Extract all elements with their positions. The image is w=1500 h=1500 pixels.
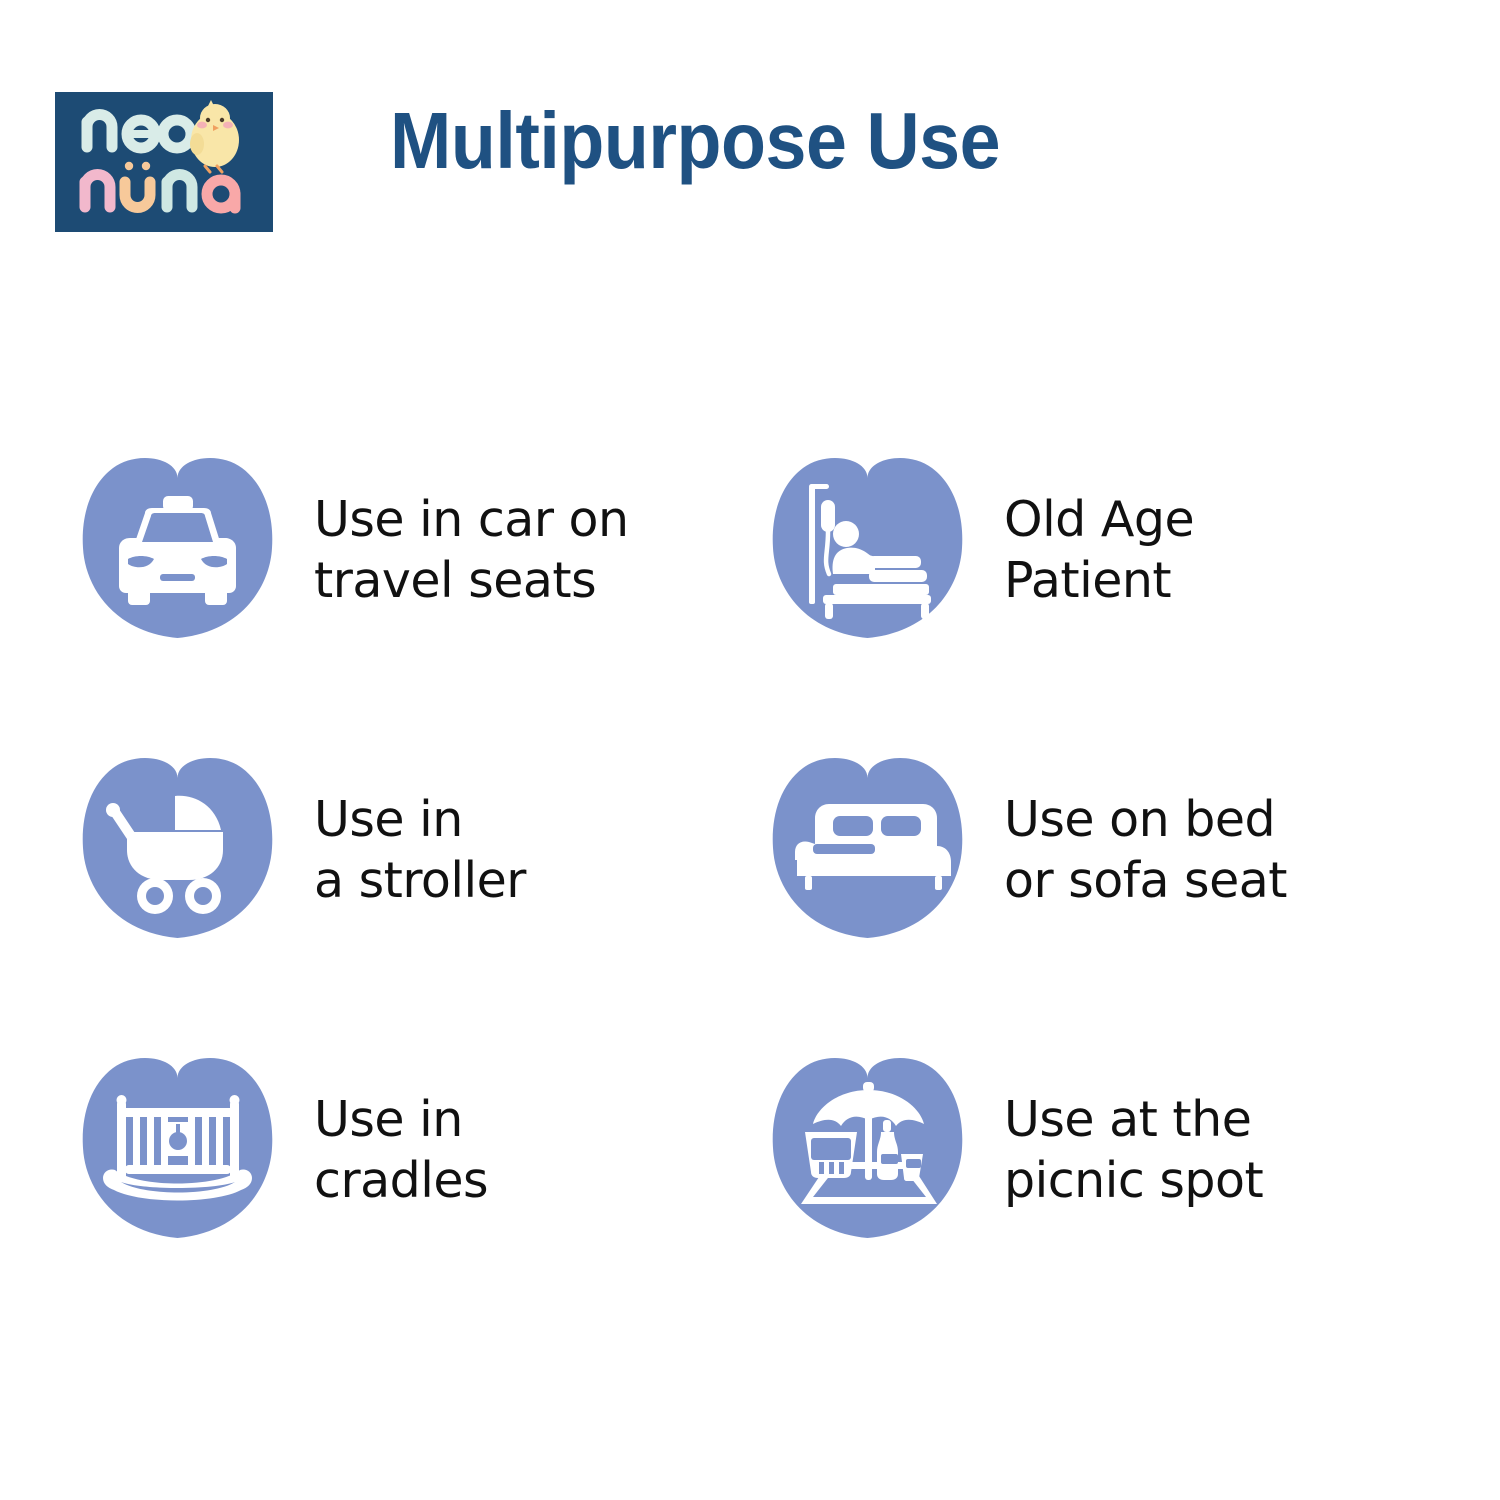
feature-item-picnic: Use at the picnic spot [765,1000,1455,1300]
feature-label-car: Use in car on travel seats [314,489,629,612]
page-title: Multipurpose Use [390,97,1000,185]
feature-item-cradle: Use in cradles [75,1000,765,1300]
feature-item-bed-sofa: Use on bed or sofa seat [765,700,1455,1000]
feature-label-old-age-patient: Old Age Patient [1004,489,1194,612]
feature-label-bed-sofa: Use on bed or sofa seat [1004,789,1287,912]
brand-logo-svg [55,92,273,232]
hospital-bed-patient-icon [765,456,970,644]
feature-label-cradle: Use in cradles [314,1089,488,1212]
feature-label-stroller: Use in a stroller [314,789,526,912]
bed-sofa-icon [765,756,970,944]
cradle-icon [75,1056,280,1244]
car-icon [75,456,280,644]
feature-item-stroller: Use in a stroller [75,700,765,1000]
feature-item-old-age-patient: Old Age Patient [765,400,1455,700]
feature-label-picnic: Use at the picnic spot [1004,1089,1263,1212]
brand-logo [55,92,273,232]
feature-item-car: Use in car on travel seats [75,400,765,700]
picnic-icon [765,1056,970,1244]
page-header: Multipurpose Use [0,0,1500,300]
stroller-icon [75,756,280,944]
feature-grid: Use in car on travel seats [0,400,1500,1300]
